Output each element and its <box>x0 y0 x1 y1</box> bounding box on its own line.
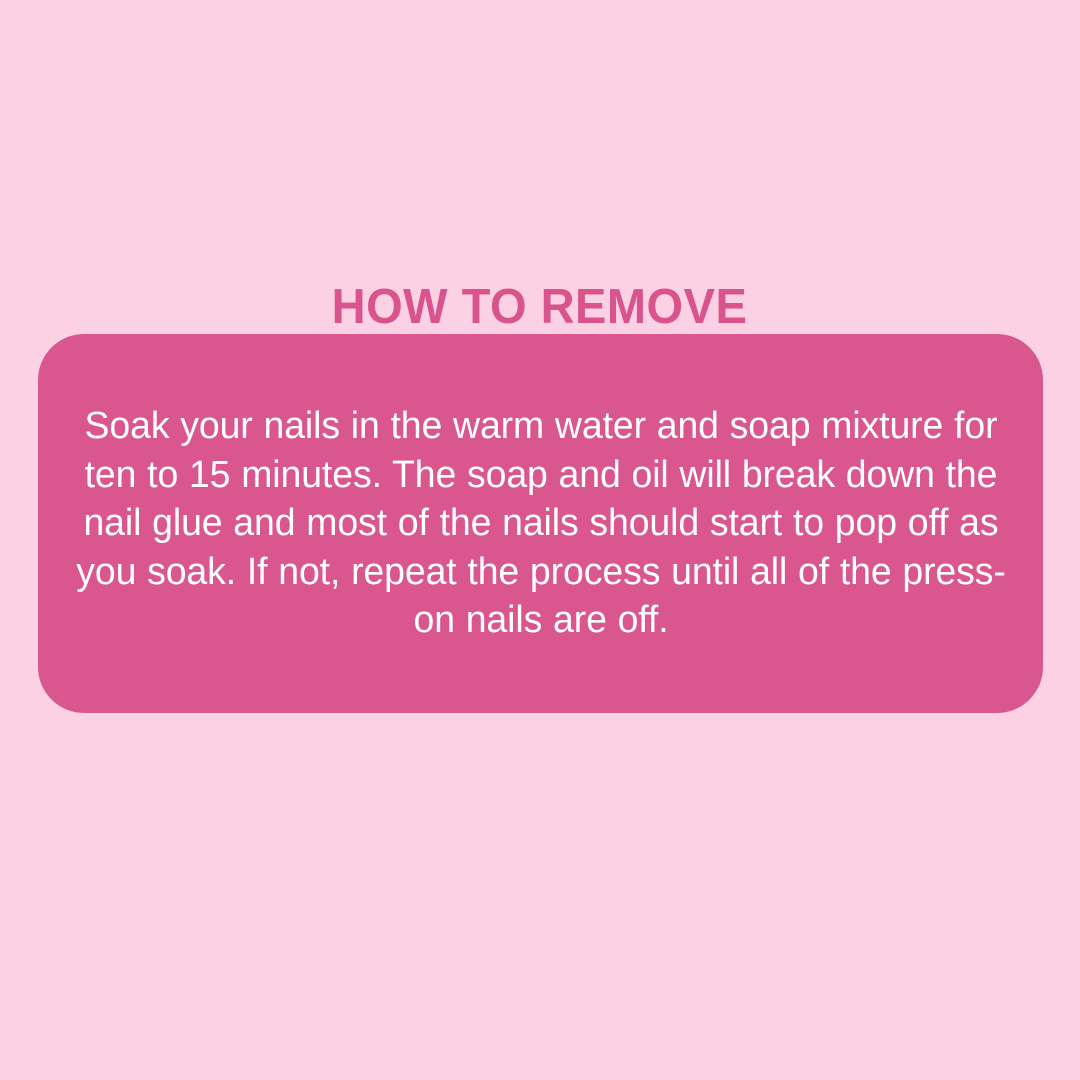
instruction-card-body-text: Soak your nails in the warm water and so… <box>69 402 1013 645</box>
poster-canvas: HOW TO REMOVE Soak your nails in the war… <box>0 0 1080 1080</box>
instruction-card: Soak your nails in the warm water and so… <box>38 334 1043 713</box>
